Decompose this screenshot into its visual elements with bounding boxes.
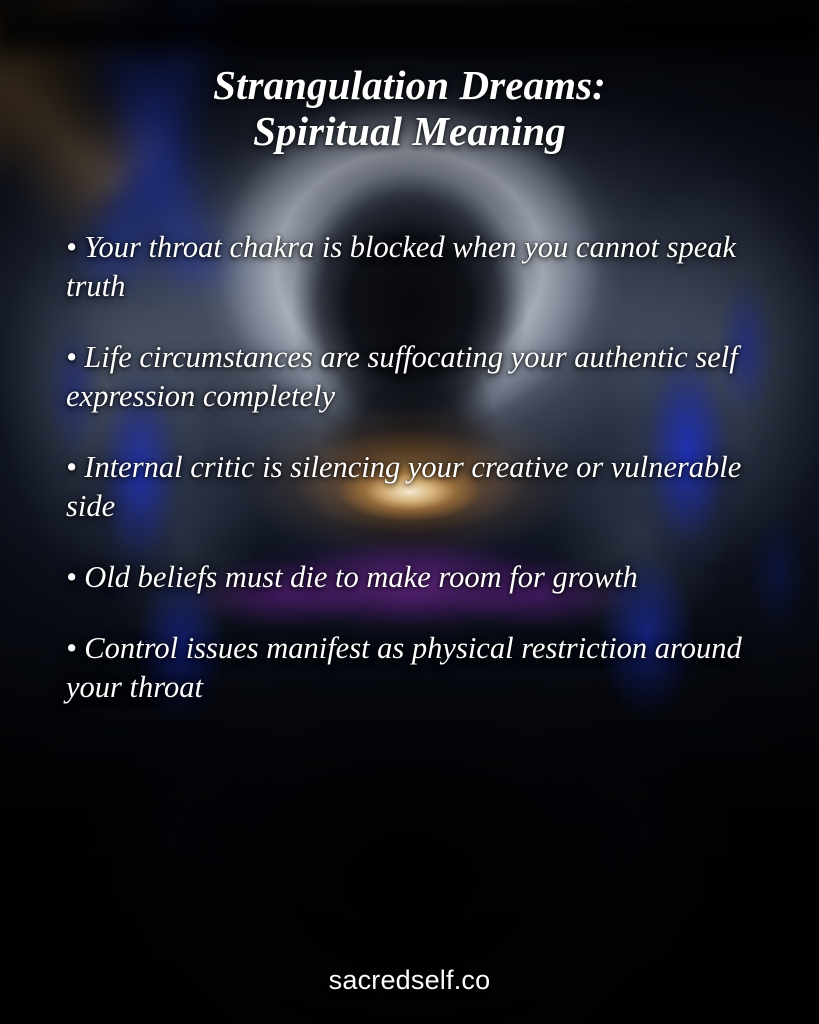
list-item: • Internal critic is silencing your crea… (66, 448, 759, 526)
poster-content: Strangulation Dreams: Spiritual Meaning … (0, 0, 819, 1024)
site-watermark: sacredself.co (0, 965, 819, 996)
list-item: • Life circumstances are suffocating you… (66, 338, 759, 416)
list-item: • Your throat chakra is blocked when you… (66, 228, 759, 306)
list-item: • Old beliefs must die to make room for … (66, 558, 759, 597)
page-title-line-2: Spiritual Meaning (90, 109, 729, 154)
bullet-list: • Your throat chakra is blocked when you… (66, 197, 759, 707)
list-item: • Control issues manifest as physical re… (66, 629, 759, 707)
page-title-line-1: Strangulation Dreams: (90, 63, 729, 108)
poster-canvas: Strangulation Dreams: Spiritual Meaning … (0, 0, 819, 1024)
page-title: Strangulation Dreams: Spiritual Meaning (0, 63, 819, 153)
